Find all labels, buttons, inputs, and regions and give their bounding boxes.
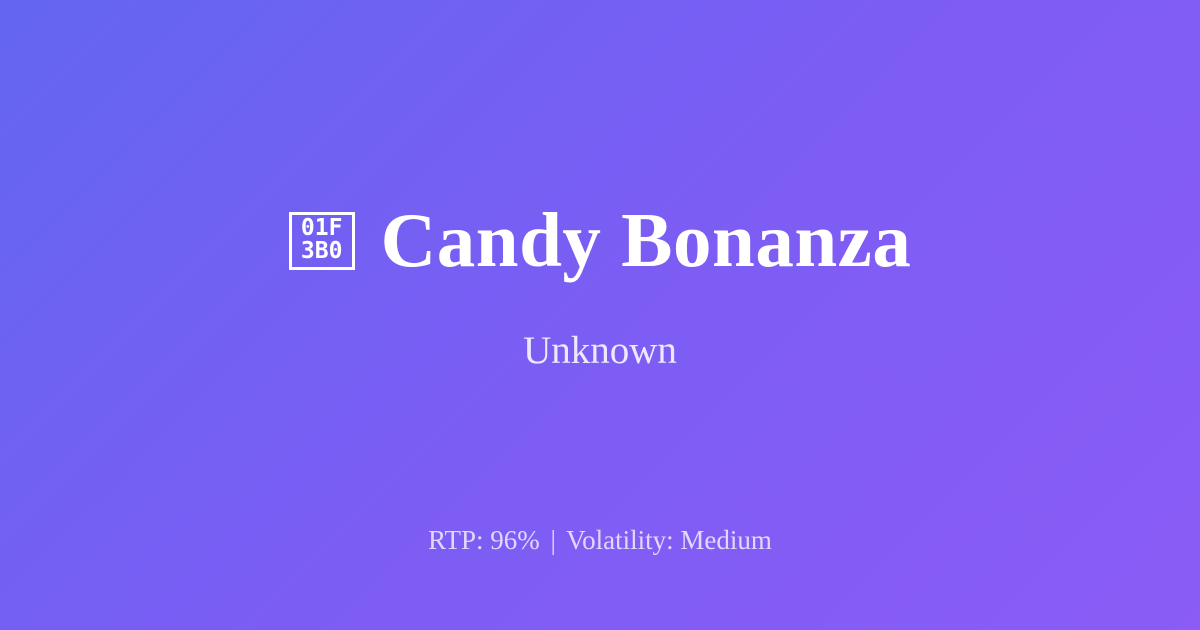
title-row: 01F 3B0 Candy Bonanza <box>289 202 912 279</box>
page-title: Candy Bonanza <box>381 202 912 279</box>
og-share-card: 01F 3B0 Candy Bonanza Unknown RTP: 96% |… <box>0 0 1200 630</box>
stats-separator: | <box>546 525 559 555</box>
volatility-value: Medium <box>680 525 772 555</box>
game-subtitle: Unknown <box>523 279 677 370</box>
codepoint-line-lower: 3B0 <box>301 240 343 263</box>
game-stats-line: RTP: 96% | Volatility: Medium <box>0 527 1200 554</box>
volatility-label: Volatility: <box>566 525 674 555</box>
rtp-value: 96% <box>490 525 540 555</box>
slot-machine-icon: 01F 3B0 <box>289 212 355 270</box>
codepoint-line-upper: 01F <box>301 217 343 240</box>
rtp-label: RTP: <box>428 525 483 555</box>
